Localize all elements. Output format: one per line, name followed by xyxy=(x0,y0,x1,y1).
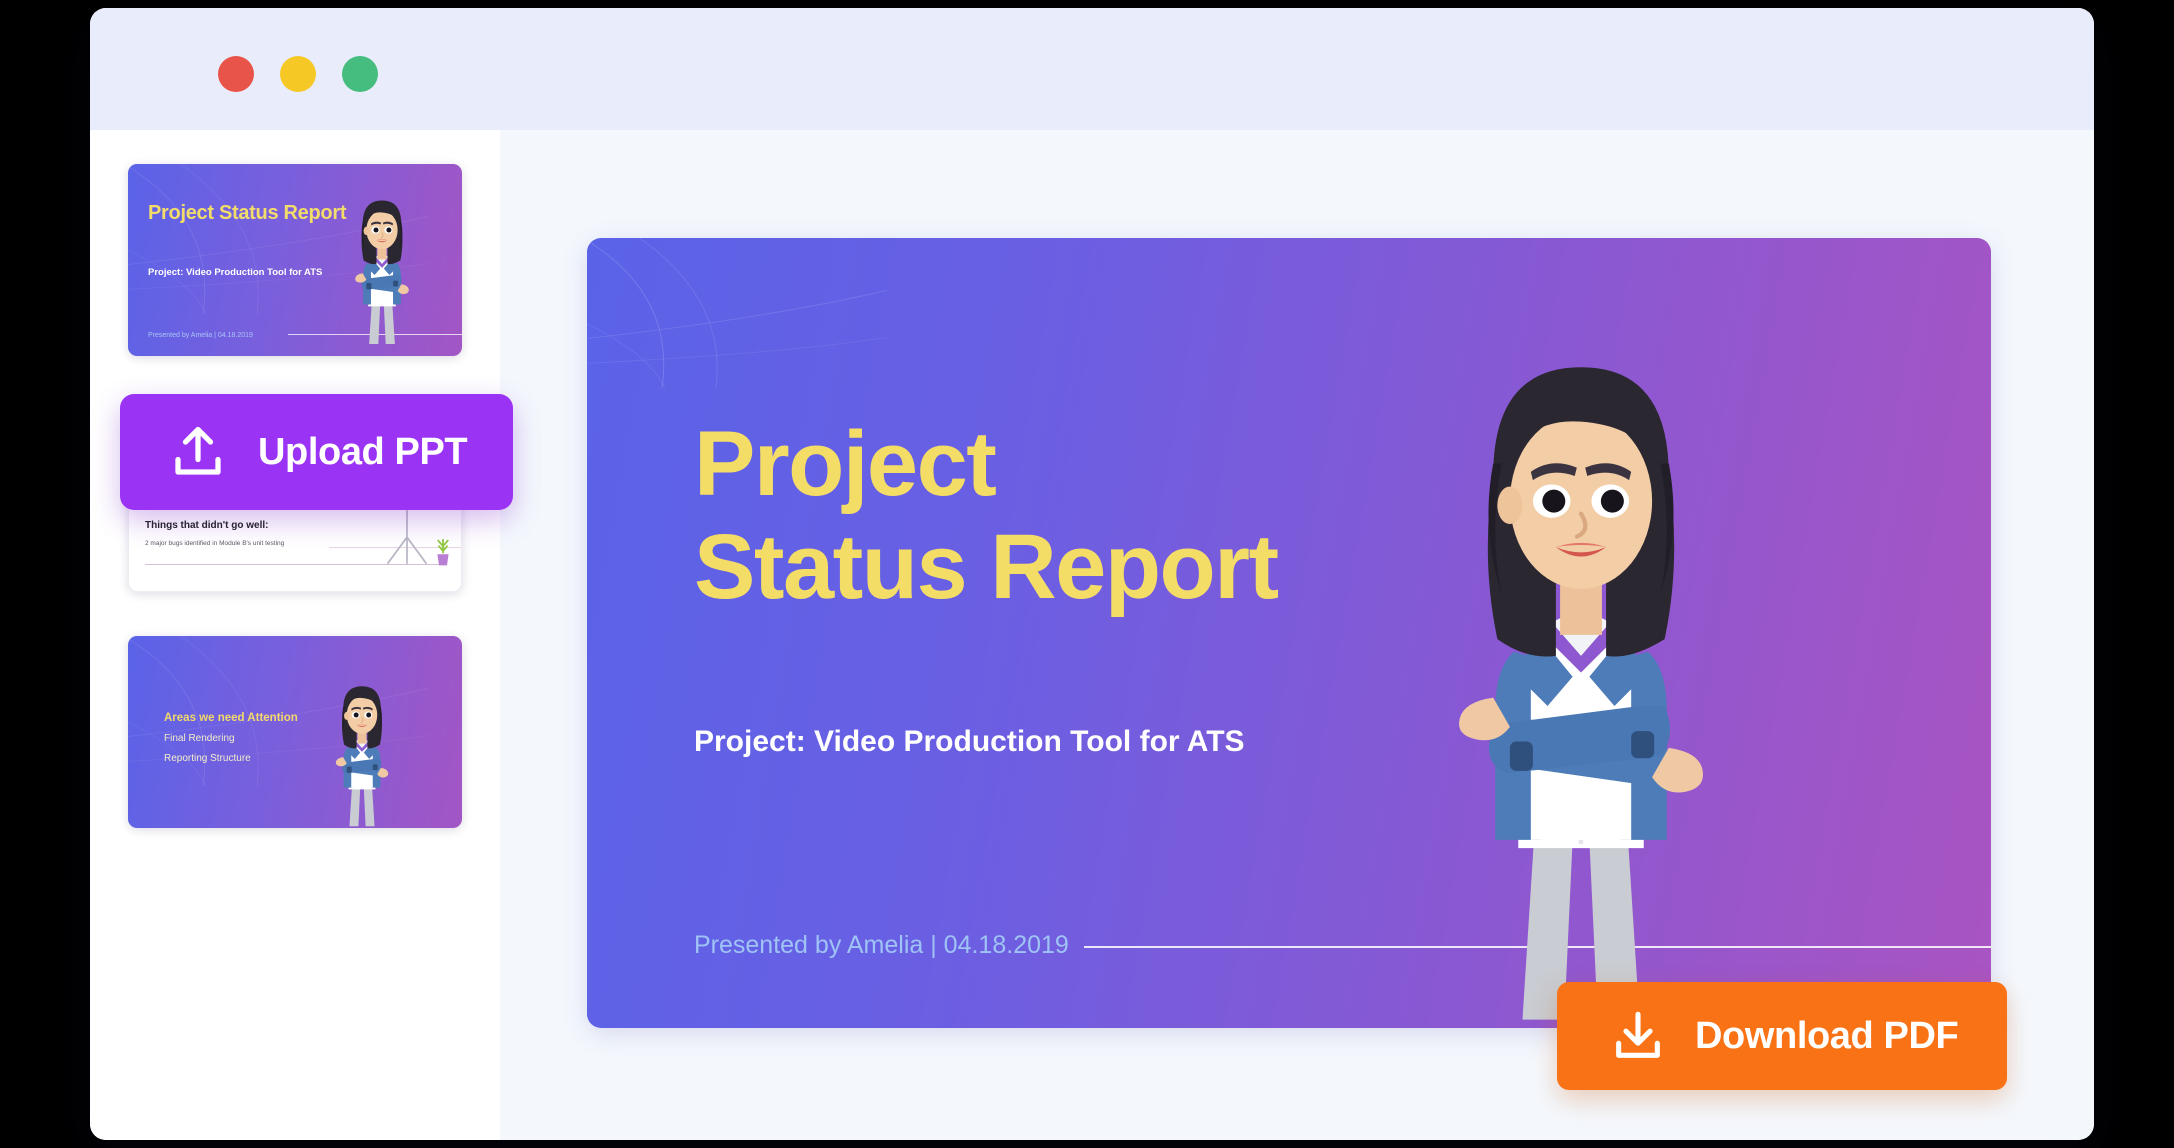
avatar-illustration xyxy=(1371,338,1791,1028)
thumbnail-2-heading-2: Things that didn't go well: xyxy=(145,520,268,531)
slide-presenter-credit: Presented by Amelia | 04.18.2019 xyxy=(694,931,1069,960)
thumbnail-1-footer: Presented by Amelia | 04.18.2019 xyxy=(148,332,253,339)
plant-icon xyxy=(433,535,453,567)
download-icon xyxy=(1609,1007,1667,1065)
avatar-illustration xyxy=(336,184,428,356)
window-title-bar xyxy=(90,8,2094,130)
upload-ppt-button[interactable]: Upload PPT xyxy=(120,394,513,510)
slide-thumbnail-sidebar[interactable]: Project Status Report Project: Video Pro… xyxy=(90,130,500,1140)
traffic-light-controls xyxy=(218,56,378,92)
slide-subtitle: Project: Video Production Tool for ATS xyxy=(694,725,1245,759)
minimize-window-button[interactable] xyxy=(280,56,316,92)
slide-title: Project Status Report xyxy=(694,413,1278,619)
thumbnail-1-subtitle: Project: Video Production Tool for ATS xyxy=(148,267,322,278)
thumbnail-3-title: Areas we need Attention xyxy=(164,712,298,724)
thumbnail-2-bullet-2a: 2 major bugs identified in Module B's un… xyxy=(145,540,284,547)
thumbnail-3-line-2: Reporting Structure xyxy=(164,753,251,764)
close-window-button[interactable] xyxy=(218,56,254,92)
maximize-window-button[interactable] xyxy=(342,56,378,92)
thumbnail-1-title: Project Status Report xyxy=(148,202,346,226)
slide-thumbnail-1[interactable]: Project Status Report Project: Video Pro… xyxy=(128,164,462,356)
upload-ppt-label: Upload PPT xyxy=(258,431,467,474)
window-body: Project Status Report Project: Video Pro… xyxy=(90,130,2094,1140)
thumbnail-3-line-1: Final Rendering xyxy=(164,733,235,744)
upload-icon xyxy=(168,422,228,482)
decorative-arcs xyxy=(587,238,887,388)
slide-thumbnail-3[interactable]: Areas we need Attention Final Rendering … xyxy=(128,636,462,828)
download-pdf-button[interactable]: Download PDF xyxy=(1557,982,2007,1090)
download-pdf-label: Download PDF xyxy=(1695,1015,1958,1058)
app-window: Project Status Report Project: Video Pro… xyxy=(90,8,2094,1140)
active-slide[interactable]: Project Status Report Project: Video Pro… xyxy=(587,238,1991,1028)
avatar-illustration xyxy=(314,680,410,828)
slide-stage: Project Status Report Project: Video Pro… xyxy=(500,130,2094,1140)
